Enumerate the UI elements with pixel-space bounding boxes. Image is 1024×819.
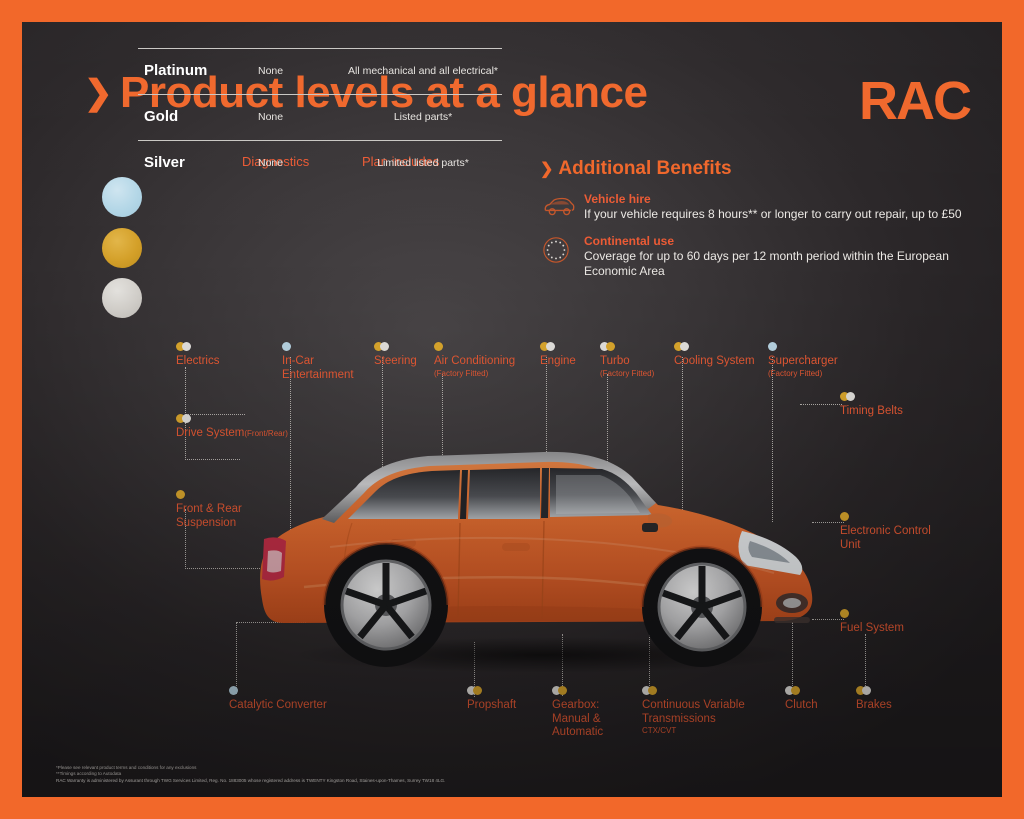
additional-benefits-section: ❯Additional Benefits Vehicle hire If you… [540,158,980,279]
level-indicator [840,609,904,618]
callout-label: Drive System(Front/Rear) [176,427,288,441]
car-illustration [244,427,844,677]
eu-stars-icon [542,236,576,262]
callout-engine[interactable]: Engine [540,342,576,369]
callout-timing-belts[interactable]: Timing Belts [840,392,903,419]
row-diagnostics: None [258,111,283,123]
callout-catalytic-converter[interactable]: Catalytic Converter [229,686,327,713]
footnotes: *Please see relevant product terms and c… [56,765,445,784]
callout-label: Fuel System [840,622,904,636]
callout-label: Timing Belts [840,405,903,419]
callout-continuous-variable-transmissions[interactable]: Continuous VariableTransmissions CTX/CVT [642,686,748,736]
footnote-line-3: RAC Warranty is administered by Assurant… [56,778,445,784]
chevron-right-icon: ❯ [540,159,553,179]
benefits-title: ❯Additional Benefits [540,158,980,180]
callout-label: Steering [374,355,417,369]
callout-sublabel: CTX/CVT [642,726,748,736]
callout-turbo[interactable]: Turbo (Factory Fitted) [600,342,654,379]
callout-steering[interactable]: Steering [374,342,417,369]
callout-sublabel: (Factory Fitted) [600,369,654,379]
level-indicator [229,686,327,695]
level-dot-gold [102,228,142,268]
level-dot-silver [102,278,142,318]
level-indicator [176,342,219,351]
level-dot-platinum [102,177,142,217]
table-row: Silver None Limited listed parts* [138,140,502,186]
chevron-right-icon: ❯ [84,73,112,113]
car-icon [542,194,576,220]
level-indicator [600,342,654,351]
level-indicator [785,686,818,695]
callout-label: Turbo [600,355,654,369]
infographic-canvas: ❯Product levels at a glance RAC Diagnost… [22,22,1002,797]
table-row: Gold None Listed parts* [138,94,502,140]
callout-sublabel: (Factory Fitted) [768,369,838,379]
callout-label: Cooling System [674,355,755,369]
row-plan-includes: All mechanical and all electrical* [333,65,513,77]
level-indicator [434,342,515,351]
leader-line [185,367,186,415]
benefit-heading: Vehicle hire [584,192,980,206]
callout-drive-system[interactable]: Drive System(Front/Rear) [176,414,288,441]
callout-label: Electrics [176,355,219,369]
callout-air-conditioning[interactable]: Air Conditioning (Factory Fitted) [434,342,515,379]
callout-sublabel: (Factory Fitted) [434,369,515,379]
benefit-heading: Continental use [584,234,980,248]
callout-label: Gearbox:Manual &Automatic [552,699,614,740]
callout-label: Front & RearSuspension [176,503,254,530]
benefit-item-continental-use: Continental use Coverage for up to 60 da… [540,234,980,279]
callout-fuel-system[interactable]: Fuel System [840,609,904,636]
leader-line [185,459,240,460]
level-indicator [374,342,417,351]
row-plan-includes: Limited listed parts* [333,157,513,169]
callout-label: Engine [540,355,576,369]
row-diagnostics: None [258,65,283,77]
callout-in-car-entertainment[interactable]: In-CarEntertainment [282,342,368,382]
row-level-name: Silver [144,154,185,171]
callout-sublabel: (Front/Rear) [244,429,288,438]
callout-propshaft[interactable]: Propshaft [467,686,516,713]
rac-logo: RAC [859,70,970,132]
callout-clutch[interactable]: Clutch [785,686,818,713]
callout-gearbox[interactable]: Gearbox:Manual &Automatic [552,686,614,740]
row-plan-includes: Listed parts* [333,111,513,123]
callout-label: Propshaft [467,699,516,713]
level-indicator [674,342,755,351]
row-level-name: Platinum [144,62,207,79]
callout-label: Supercharger [768,355,838,369]
callout-electrics[interactable]: Electrics [176,342,219,369]
callout-label: Air Conditioning [434,355,515,369]
level-indicator [552,686,614,695]
callout-label: Clutch [785,699,818,713]
callout-label: Brakes [856,699,892,713]
table-row: Platinum None All mechanical and all ele… [138,48,502,94]
level-indicator [176,414,288,423]
callout-cooling-system[interactable]: Cooling System [674,342,755,369]
benefits-title-text: Additional Benefits [558,158,731,179]
leader-line [865,634,866,694]
callout-label: Electronic ControlUnit [840,525,938,552]
level-indicator [856,686,892,695]
table-body: Platinum None All mechanical and all ele… [138,48,502,186]
row-diagnostics: None [258,157,283,169]
callout-label: In-CarEntertainment [282,355,368,382]
leader-line [800,404,842,405]
level-indicator [282,342,368,351]
callout-supercharger[interactable]: Supercharger (Factory Fitted) [768,342,838,379]
callout-electronic-control-unit[interactable]: Electronic ControlUnit [840,512,938,552]
level-indicator [840,512,938,521]
level-indicator [642,686,748,695]
level-indicator [768,342,838,351]
leader-line [236,622,237,694]
benefit-item-vehicle-hire: Vehicle hire If your vehicle requires 8 … [540,192,980,222]
level-indicator [176,490,254,499]
benefit-body: If your vehicle requires 8 hours** or lo… [584,207,980,222]
level-indicator [840,392,903,401]
benefit-body: Coverage for up to 60 days per 12 month … [584,249,980,279]
level-indicator [467,686,516,695]
callout-label: Continuous VariableTransmissions [642,699,748,726]
callout-front-rear-suspension[interactable]: Front & RearSuspension [176,490,254,530]
callout-brakes[interactable]: Brakes [856,686,892,713]
callout-label: Catalytic Converter [229,699,327,713]
row-level-name: Gold [144,108,178,125]
level-indicator [540,342,576,351]
